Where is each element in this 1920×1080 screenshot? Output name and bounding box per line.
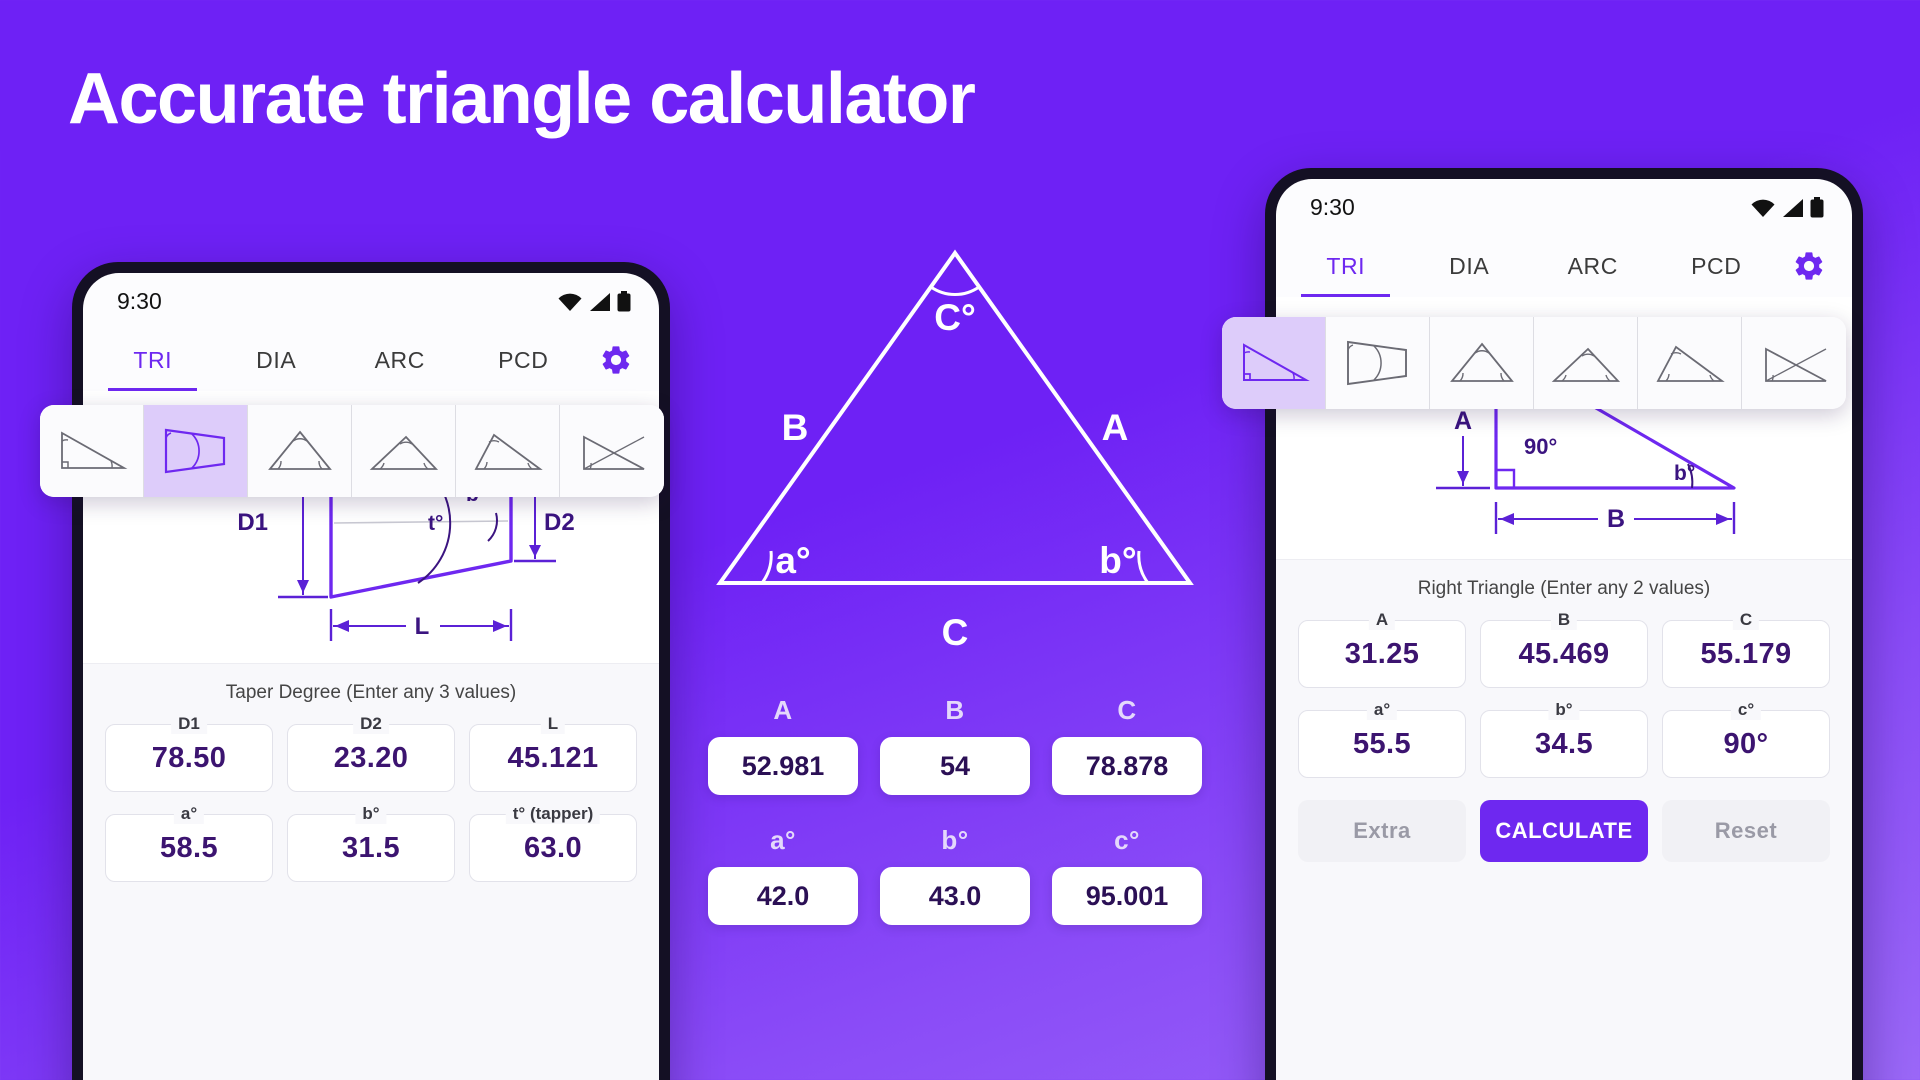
shape-selector-left <box>40 405 664 497</box>
svg-text:D1: D1 <box>237 509 268 536</box>
field-value-angle-a: 58.5 <box>160 832 218 865</box>
field-value-d2: 23.20 <box>334 742 409 775</box>
field-row-2: a° 58.5 b° 31.5 t° (tapper) 63.0 <box>105 814 637 882</box>
tab-dia[interactable]: DIA <box>215 329 339 391</box>
field-label-angle-c-right: c° <box>1731 700 1761 720</box>
field-angle-c-right[interactable]: c° 90° <box>1662 710 1830 778</box>
svg-text:C: C <box>942 612 969 653</box>
settings-button-right[interactable] <box>1778 249 1840 283</box>
center-field-c[interactable]: C 78.878 <box>1052 695 1202 795</box>
field-label-l: L <box>541 714 565 734</box>
svg-text:B: B <box>1607 505 1625 533</box>
field-label-angle-b: b° <box>355 804 386 824</box>
shape-option-isosceles-r[interactable] <box>1534 317 1638 409</box>
field-l[interactable]: L 45.121 <box>469 724 637 792</box>
center-label-angle-a: a° <box>770 825 796 856</box>
tab-bar: TRI DIA ARC PCD <box>83 329 659 391</box>
center-value-angle-a: 42.0 <box>708 867 858 925</box>
right-triangle-icon <box>1236 339 1312 387</box>
equilateral-triangle-icon <box>262 427 338 475</box>
isosceles-triangle-icon <box>1548 339 1624 387</box>
form-area-right: Right Triangle (Enter any 2 values) A 31… <box>1276 559 1852 1080</box>
tab-bar-right: TRI DIA ARC PCD <box>1276 235 1852 297</box>
field-value-side-a: 31.25 <box>1345 638 1420 671</box>
field-value-side-c: 55.179 <box>1700 638 1791 671</box>
field-angle-b[interactable]: b° 31.5 <box>287 814 455 882</box>
svg-text:a°: a° <box>775 540 810 581</box>
shape-option-equilateral-r[interactable] <box>1430 317 1534 409</box>
field-value-taper: 63.0 <box>524 832 582 865</box>
scalene-triangle-icon <box>574 427 650 475</box>
taper-trapezoid-icon <box>158 425 234 477</box>
shape-option-scalene[interactable] <box>560 405 664 497</box>
center-field-row-1: A 52.981 B 54 C 78.878 <box>708 695 1202 795</box>
gear-icon <box>1792 249 1826 283</box>
tab-pcd-right[interactable]: PCD <box>1655 235 1779 297</box>
svg-text:b°: b° <box>1674 462 1695 485</box>
center-value-angle-c: 95.001 <box>1052 867 1202 925</box>
gear-icon <box>599 343 633 377</box>
field-d2[interactable]: D2 23.20 <box>287 724 455 792</box>
center-field-row-2: a° 42.0 b° 43.0 c° 95.001 <box>708 825 1202 925</box>
field-row-right-1: A 31.25 B 45.469 C 55.179 <box>1298 620 1830 688</box>
status-time: 9:30 <box>117 288 162 315</box>
page-title: Accurate triangle calculator <box>68 62 974 138</box>
center-label-angle-c: c° <box>1114 825 1140 856</box>
status-icon-group <box>557 291 631 312</box>
form-area-left: Taper Degree (Enter any 3 values) D1 78.… <box>83 663 659 1080</box>
center-field-b[interactable]: B 54 <box>880 695 1030 795</box>
shape-option-right-triangle-r[interactable] <box>1222 317 1326 409</box>
tab-pcd[interactable]: PCD <box>462 329 586 391</box>
wifi-icon <box>557 292 583 312</box>
status-bar: 9:30 <box>83 273 659 329</box>
center-field-grid: A 52.981 B 54 C 78.878 a° 42.0 b° 43.0 c <box>708 695 1202 955</box>
field-d1[interactable]: D1 78.50 <box>105 724 273 792</box>
svg-text:A: A <box>1454 407 1472 435</box>
extra-button[interactable]: Extra <box>1298 800 1466 862</box>
field-value-l: 45.121 <box>507 742 598 775</box>
field-value-angle-c-right: 90° <box>1723 728 1768 761</box>
field-taper[interactable]: t° (tapper) 63.0 <box>469 814 637 882</box>
center-showcase: C° a° b° B A C A 52.981 B 54 C 78.878 a°… <box>690 255 1220 975</box>
status-time-right: 9:30 <box>1310 194 1355 221</box>
field-label-side-c: C <box>1733 610 1759 630</box>
tab-arc[interactable]: ARC <box>338 329 462 391</box>
calculate-button[interactable]: CALCULATE <box>1480 800 1648 862</box>
battery-icon <box>1810 197 1824 218</box>
field-label-angle-a: a° <box>174 804 204 824</box>
center-label-b: B <box>945 695 964 726</box>
shape-option-right-triangle[interactable] <box>40 405 144 497</box>
form-hint: Taper Degree (Enter any 3 values) <box>105 682 637 704</box>
tab-dia-right[interactable]: DIA <box>1408 235 1532 297</box>
shape-selector-right <box>1222 317 1846 409</box>
right-triangle-icon <box>54 427 130 475</box>
shape-option-isosceles[interactable] <box>352 405 456 497</box>
center-label-a: A <box>773 695 792 726</box>
field-side-c[interactable]: C 55.179 <box>1662 620 1830 688</box>
center-field-angle-a[interactable]: a° 42.0 <box>708 825 858 925</box>
field-angle-a-right[interactable]: a° 55.5 <box>1298 710 1466 778</box>
obtuse-triangle-icon <box>470 427 546 475</box>
svg-text:b°: b° <box>1099 540 1136 581</box>
center-field-a[interactable]: A 52.981 <box>708 695 858 795</box>
field-label-side-b: B <box>1551 610 1577 630</box>
field-row-right-2: a° 55.5 b° 34.5 c° 90° <box>1298 710 1830 778</box>
obtuse-triangle-icon <box>1652 339 1728 387</box>
field-side-a[interactable]: A 31.25 <box>1298 620 1466 688</box>
form-hint-right: Right Triangle (Enter any 2 values) <box>1298 578 1830 600</box>
phone-screen-right: 9:30 TRI DIA ARC PCD <box>1276 179 1852 1080</box>
field-label-angle-a-right: a° <box>1367 700 1397 720</box>
shape-option-scalene-r[interactable] <box>1742 317 1846 409</box>
field-label-d1: D1 <box>171 714 207 734</box>
field-label-d2: D2 <box>353 714 389 734</box>
status-icon-group-right <box>1750 197 1824 218</box>
svg-text:B: B <box>782 407 809 448</box>
tab-tri[interactable]: TRI <box>91 329 215 391</box>
equilateral-triangle-icon <box>1444 339 1520 387</box>
status-bar-right: 9:30 <box>1276 179 1852 235</box>
center-value-angle-b: 43.0 <box>880 867 1030 925</box>
center-field-angle-b[interactable]: b° 43.0 <box>880 825 1030 925</box>
svg-text:L: L <box>415 613 430 640</box>
field-value-angle-a-right: 55.5 <box>1353 728 1411 761</box>
shape-option-taper-r[interactable] <box>1326 317 1430 409</box>
shape-option-obtuse-r[interactable] <box>1638 317 1742 409</box>
taper-trapezoid-icon <box>1340 337 1416 389</box>
signal-icon <box>589 292 611 312</box>
phone-mockup-left: 9:30 TRI DIA ARC PCD <box>72 262 670 1080</box>
signal-icon <box>1782 198 1804 218</box>
field-label-side-a: A <box>1369 610 1395 630</box>
shape-option-obtuse[interactable] <box>456 405 560 497</box>
tab-arc-right[interactable]: ARC <box>1531 235 1655 297</box>
field-side-b[interactable]: B 45.469 <box>1480 620 1648 688</box>
reset-button[interactable]: Reset <box>1662 800 1830 862</box>
field-angle-a[interactable]: a° 58.5 <box>105 814 273 882</box>
svg-text:A: A <box>1102 407 1129 448</box>
settings-button[interactable] <box>585 343 647 377</box>
svg-text:C°: C° <box>934 297 976 338</box>
center-value-c: 78.878 <box>1052 737 1202 795</box>
field-row-1: D1 78.50 D2 23.20 L 45.121 <box>105 724 637 792</box>
wifi-icon <box>1750 198 1776 218</box>
tab-tri-right[interactable]: TRI <box>1284 235 1408 297</box>
center-value-a: 52.981 <box>708 737 858 795</box>
button-row: Extra CALCULATE Reset <box>1298 800 1830 862</box>
center-field-angle-c[interactable]: c° 95.001 <box>1052 825 1202 925</box>
field-angle-b-right[interactable]: b° 34.5 <box>1480 710 1648 778</box>
field-value-d1: 78.50 <box>152 742 227 775</box>
field-value-side-b: 45.469 <box>1518 638 1609 671</box>
field-label-taper: t° (tapper) <box>506 804 600 824</box>
svg-text:t°: t° <box>428 512 443 535</box>
field-label-angle-b-right: b° <box>1548 700 1579 720</box>
phone-mockup-right: 9:30 TRI DIA ARC PCD <box>1265 168 1863 1080</box>
center-value-b: 54 <box>880 737 1030 795</box>
large-triangle-svg: C° a° b° B A C <box>690 235 1220 655</box>
center-label-angle-b: b° <box>941 825 968 856</box>
isosceles-triangle-icon <box>366 427 442 475</box>
phone-screen-left: 9:30 TRI DIA ARC PCD <box>83 273 659 1080</box>
center-label-c: C <box>1117 695 1136 726</box>
scalene-triangle-icon <box>1756 339 1832 387</box>
svg-text:D2: D2 <box>544 509 575 536</box>
field-value-angle-b: 31.5 <box>342 832 400 865</box>
svg-text:90°: 90° <box>1524 434 1557 459</box>
battery-icon <box>617 291 631 312</box>
shape-option-equilateral[interactable] <box>248 405 352 497</box>
shape-option-taper[interactable] <box>144 405 248 497</box>
field-value-angle-b-right: 34.5 <box>1535 728 1593 761</box>
